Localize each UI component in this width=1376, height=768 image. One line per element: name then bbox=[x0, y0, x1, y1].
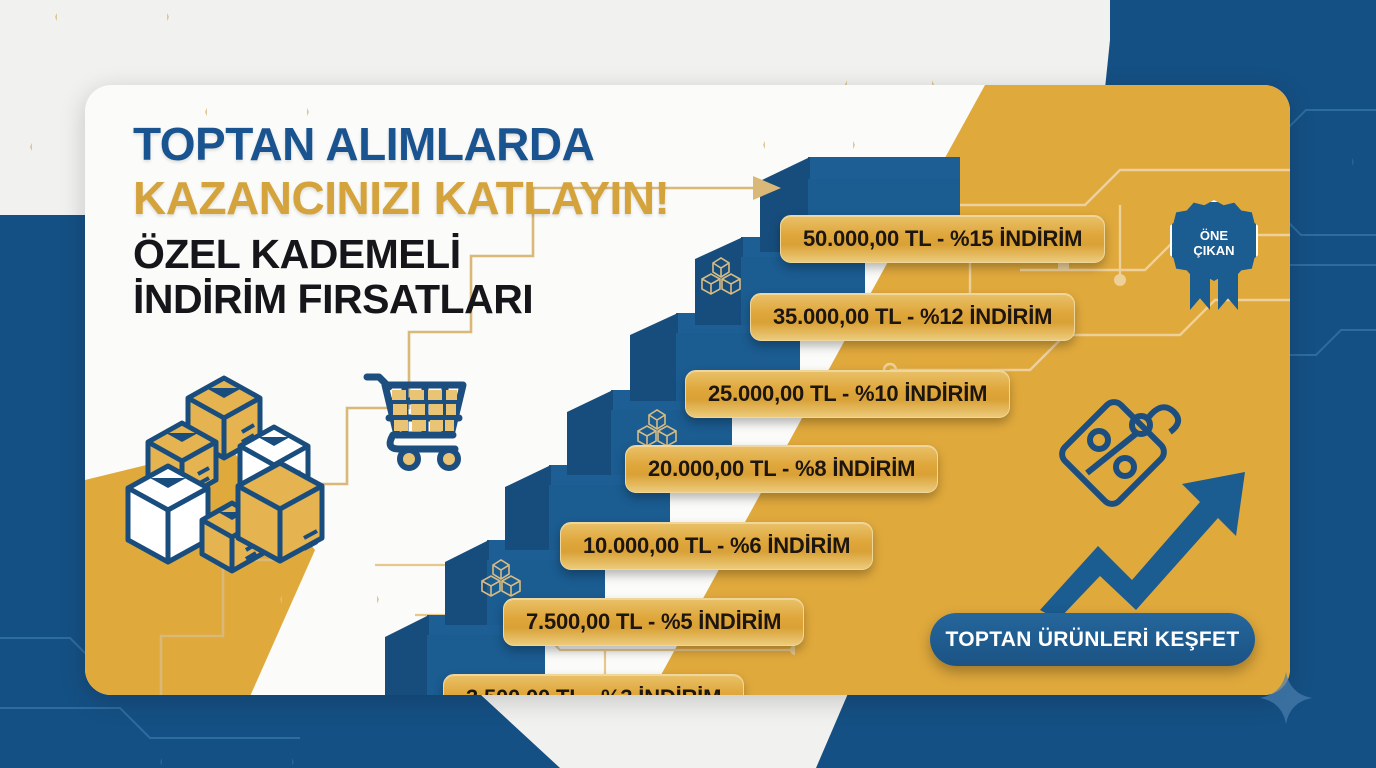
promo-card: TOPTAN ALIMLARDA KAZANCINIZI KATLAYIN! Ö… bbox=[85, 85, 1290, 695]
tier-label-4: 20.000,00 TL - %8 İNDİRİM bbox=[648, 456, 915, 482]
cta-label: TOPTAN ÜRÜNLERİ KEŞFET bbox=[946, 628, 1240, 652]
tier-label-7: 50.000,00 TL - %15 İNDİRİM bbox=[803, 226, 1082, 252]
shopping-cart-icon bbox=[357, 363, 477, 473]
ribbon-left bbox=[1190, 268, 1210, 310]
featured-badge-line-1: ÖNE bbox=[1200, 229, 1228, 244]
discover-wholesale-button[interactable]: TOPTAN ÜRÜNLERİ KEŞFET bbox=[930, 613, 1255, 666]
headline-block: TOPTAN ALIMLARDA KAZANCINIZI KATLAYIN! Ö… bbox=[133, 121, 833, 320]
tier-label-5: 25.000,00 TL - %10 İNDİRİM bbox=[708, 381, 987, 407]
tier-label-1: 3.500,00 TL - %3 İNDİRİM bbox=[466, 685, 721, 695]
tier-pill-1[interactable]: 3.500,00 TL - %3 İNDİRİM bbox=[443, 674, 744, 695]
tier-pill-6[interactable]: 35.000,00 TL - %12 İNDİRİM bbox=[750, 293, 1075, 341]
growth-arrow-icon bbox=[1040, 440, 1270, 620]
small-boxes-icon-step2 bbox=[477, 555, 525, 603]
headline-line-2: KAZANCINIZI KATLAYIN! bbox=[133, 175, 833, 221]
tier-pill-4[interactable]: 20.000,00 TL - %8 İNDİRİM bbox=[625, 445, 938, 493]
featured-badge: ÖNE ÇIKAN bbox=[1170, 200, 1262, 310]
featured-badge-line-2: ÇIKAN bbox=[1193, 244, 1234, 259]
headline-line-4: İNDİRİM FIRSATLARI bbox=[133, 279, 833, 320]
tier-label-2: 7.500,00 TL - %5 İNDİRİM bbox=[526, 609, 781, 635]
tier-pill-3[interactable]: 10.000,00 TL - %6 İNDİRİM bbox=[560, 522, 873, 570]
rosette-icon: ÖNE ÇIKAN bbox=[1170, 200, 1258, 288]
tier-label-3: 10.000,00 TL - %6 İNDİRİM bbox=[583, 533, 850, 559]
promo-banner: TOPTAN ALIMLARDA KAZANCINIZI KATLAYIN! Ö… bbox=[0, 0, 1376, 768]
tier-pill-2[interactable]: 7.500,00 TL - %5 İNDİRİM bbox=[503, 598, 804, 646]
headline-line-3: ÖZEL KADEMELİ bbox=[133, 234, 833, 275]
tier-pill-5[interactable]: 25.000,00 TL - %10 İNDİRİM bbox=[685, 370, 1010, 418]
headline-line-1: TOPTAN ALIMLARDA bbox=[133, 121, 833, 167]
tier-pill-7[interactable]: 50.000,00 TL - %15 İNDİRİM bbox=[780, 215, 1105, 263]
ribbon-right bbox=[1218, 268, 1238, 310]
tier-label-6: 35.000,00 TL - %12 İNDİRİM bbox=[773, 304, 1052, 330]
stacked-boxes-icon bbox=[110, 360, 350, 590]
